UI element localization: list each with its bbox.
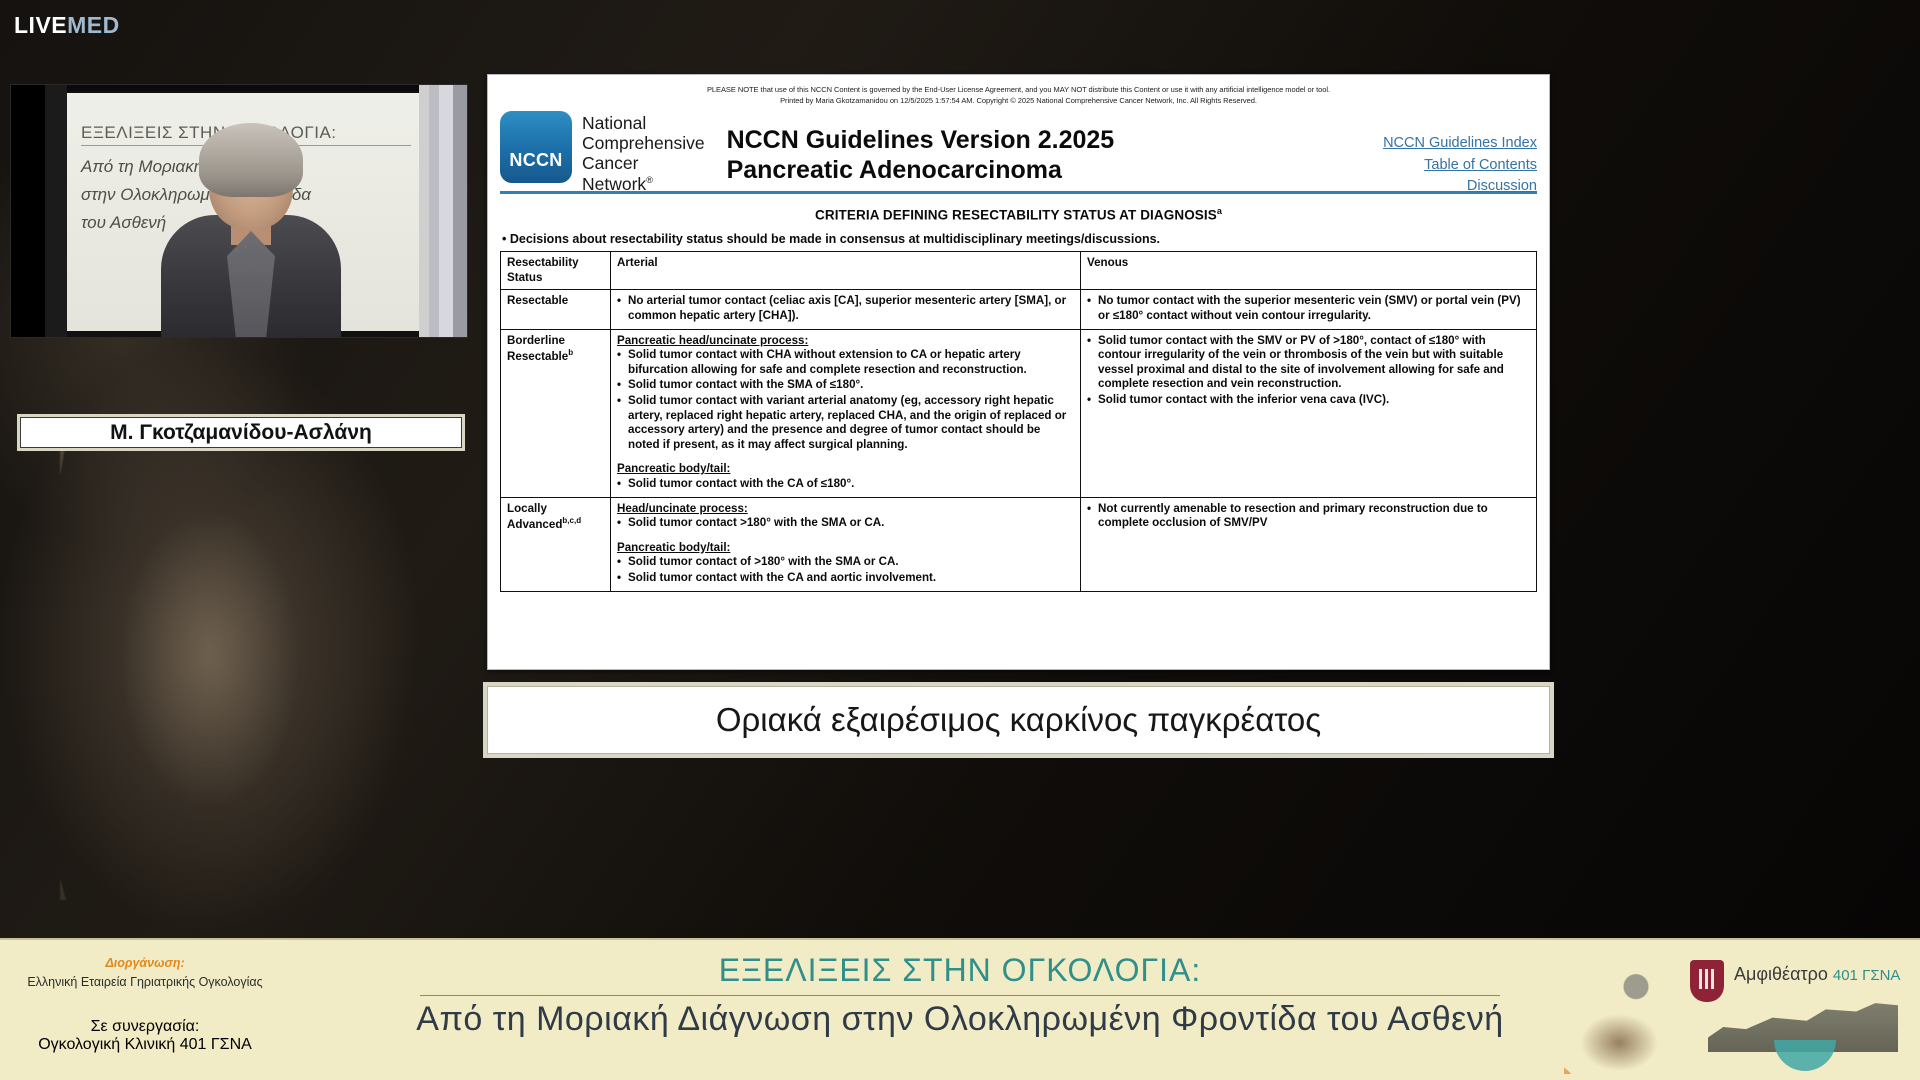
cell-bullet-list: Solid tumor contact with CHA without ext… bbox=[617, 348, 1074, 452]
footer-title-line1: ΕΞΕΛΙΞΕΙΣ ΣΤΗΝ ΟΓΚΟΛΟΓΙΑ: bbox=[300, 952, 1620, 989]
cell-bullet-item: Solid tumor contact with the inferior ve… bbox=[1087, 393, 1530, 408]
topic-caption-text: Οριακά εξαιρέσιμος καρκίνος παγκρέατος bbox=[716, 701, 1321, 739]
cell-resectability-status: Resectable bbox=[501, 290, 611, 329]
collaborator-value: Ογκολογική Κλινική 401 ΓΣΝΑ bbox=[0, 1036, 290, 1054]
header-venous: Venous bbox=[1081, 252, 1537, 290]
collaborator-block: Σε συνεργασία: Ογκολογική Κλινική 401 ΓΣ… bbox=[0, 1018, 290, 1054]
speaker-nameplate: Μ. Γκοτζαμανίδου-Ασλάνη bbox=[20, 417, 462, 448]
header-resectability-status: Resectability Status bbox=[501, 252, 611, 290]
link-discussion[interactable]: Discussion bbox=[1383, 176, 1537, 198]
cell-bullet-list: Solid tumor contact with the CA of ≤180°… bbox=[617, 477, 1074, 492]
organizer-value: Ελληνική Εταιρεία Γηριατρικής Ογκολογίας bbox=[0, 975, 290, 989]
cell-resectability-status: Locally Advancedb,c,d bbox=[501, 497, 611, 591]
criteria-heading: CRITERIA DEFINING RESECTABILITY STATUS A… bbox=[500, 206, 1537, 223]
logo-med-text: MED bbox=[67, 14, 120, 37]
speaker-name: Μ. Γκοτζαμανίδου-Ασλάνη bbox=[110, 421, 372, 445]
organizer-block: Διοργάνωση: Ελληνική Εταιρεία Γηριατρική… bbox=[0, 956, 290, 989]
speaker-video-tile[interactable]: ΕΞΕΛΙΞΕΙΣ ΣΤΗΝ ΟΓΚΟΛΟΓΙΑ: Από τη Μοριακή… bbox=[10, 84, 468, 338]
cell-subheading: Pancreatic body/tail: bbox=[617, 541, 1074, 556]
cell-resectability-status: Borderline Resectableb bbox=[501, 329, 611, 497]
cell-arterial: Pancreatic head/uncinate process:Solid t… bbox=[611, 329, 1081, 497]
cell-bullet-list: Solid tumor contact of >180° with the SM… bbox=[617, 555, 1074, 585]
link-table-of-contents[interactable]: Table of Contents bbox=[1383, 155, 1537, 177]
footer-logos: Αμφιθέατρο 401 ΓΣΝΑ bbox=[1558, 948, 1908, 1078]
table-row: Locally Advancedb,c,dHead/uncinate proce… bbox=[501, 497, 1537, 591]
venue-label: Αμφιθέατρο 401 ΓΣΝΑ bbox=[1734, 964, 1900, 985]
footer-title-block: ΕΞΕΛΙΞΕΙΣ ΣΤΗΝ ΟΓΚΟΛΟΓΙΑ: Από τη Μοριακή… bbox=[300, 952, 1620, 1039]
nccn-org-name: National Comprehensive Cancer Network® bbox=[582, 111, 705, 194]
video-left-edge bbox=[11, 85, 67, 337]
cell-bullet-item: Solid tumor contact with the SMA of ≤180… bbox=[617, 378, 1074, 393]
organizer-label: Διοργάνωση: bbox=[0, 956, 290, 970]
table-row: Borderline ResectablebPancreatic head/un… bbox=[501, 329, 1537, 497]
cell-bullet-item: No arterial tumor contact (celiac axis [… bbox=[617, 294, 1074, 323]
cell-subheading: Head/uncinate process: bbox=[617, 502, 1074, 517]
slide-header: NCCN National Comprehensive Cancer Netwo… bbox=[500, 111, 1537, 189]
table-body: ResectableNo arterial tumor contact (cel… bbox=[501, 290, 1537, 591]
army-shield-icon bbox=[1690, 960, 1724, 1002]
nccn-org-line4: Network® bbox=[582, 174, 705, 194]
nccn-org-line1: National bbox=[582, 113, 705, 133]
footer-title-divider bbox=[420, 995, 1500, 996]
slide-links: NCCN Guidelines Index Table of Contents … bbox=[1383, 133, 1537, 198]
cell-bullet-list: Not currently amenable to resection and … bbox=[1087, 502, 1530, 531]
nccn-org-line2: Comprehensive bbox=[582, 133, 705, 153]
consensus-note: • Decisions about resectability status s… bbox=[502, 232, 1537, 246]
table-row: ResectableNo arterial tumor contact (cel… bbox=[501, 290, 1537, 329]
cell-venous: Solid tumor contact with the SMV or PV o… bbox=[1081, 329, 1537, 497]
topic-caption-bar: Οριακά εξαιρέσιμος καρκίνος παγκρέατος bbox=[487, 686, 1550, 754]
video-right-edge bbox=[419, 85, 467, 337]
speaker-figure bbox=[151, 127, 351, 337]
cell-bullet-item: Solid tumor contact with CHA without ext… bbox=[617, 348, 1074, 377]
cell-arterial: No arterial tumor contact (celiac axis [… bbox=[611, 290, 1081, 329]
resectability-criteria-table: Resectability Status Arterial Venous Res… bbox=[500, 251, 1537, 591]
logo-live-text: LIVE bbox=[14, 14, 67, 37]
cell-venous: No tumor contact with the superior mesen… bbox=[1081, 290, 1537, 329]
video-frame: ΕΞΕΛΙΞΕΙΣ ΣΤΗΝ ΟΓΚΟΛΟΓΙΑ: Από τη Μοριακή… bbox=[11, 85, 467, 337]
footer-title-line2: Από τη Μοριακή Διάγνωση στην Ολοκληρωμέν… bbox=[300, 1000, 1620, 1039]
slide-title-subject: Pancreatic Adenocarcinoma bbox=[727, 155, 1115, 186]
venue-name: Αμφιθέατρο bbox=[1734, 964, 1828, 984]
conference-footer: Διοργάνωση: Ελληνική Εταιρεία Γηριατρική… bbox=[0, 938, 1920, 1080]
cell-bullet-item: Solid tumor contact with the CA and aort… bbox=[617, 571, 1074, 586]
dna-helix-icon bbox=[1564, 962, 1684, 1074]
slide-title-version: NCCN Guidelines Version 2.2025 bbox=[727, 125, 1115, 156]
presentation-slide: PLEASE NOTE that use of this NCCN Conten… bbox=[487, 74, 1550, 670]
cell-bullet-item: Solid tumor contact with the CA of ≤180°… bbox=[617, 477, 1074, 492]
link-guidelines-index[interactable]: NCCN Guidelines Index bbox=[1383, 133, 1537, 155]
cell-subheading: Pancreatic body/tail: bbox=[617, 462, 1074, 477]
cell-subheading: Pancreatic head/uncinate process: bbox=[617, 334, 1074, 349]
teal-arc-decoration bbox=[1774, 1040, 1836, 1071]
slide-title-block: NCCN Guidelines Version 2.2025 Pancreati… bbox=[727, 111, 1115, 186]
livemed-logo[interactable]: LIVEMED bbox=[14, 14, 120, 37]
nccn-org-line3: Cancer bbox=[582, 153, 705, 173]
cell-arterial: Head/uncinate process:Solid tumor contac… bbox=[611, 497, 1081, 591]
speaker-hair bbox=[199, 123, 303, 197]
cell-bullet-item: Solid tumor contact >180° with the SMA o… bbox=[617, 516, 1074, 531]
disclaimer-line-1: PLEASE NOTE that use of this NCCN Conten… bbox=[500, 85, 1537, 96]
cell-bullet-list: No arterial tumor contact (celiac axis [… bbox=[617, 294, 1074, 323]
cell-bullet-item: No tumor contact with the superior mesen… bbox=[1087, 294, 1530, 323]
cell-bullet-list: No tumor contact with the superior mesen… bbox=[1087, 294, 1530, 323]
webinar-player: LIVEMED ΕΞΕΛΙΞΕΙΣ ΣΤΗΝ ΟΓΚΟΛΟΓΙΑ: Από τη… bbox=[0, 0, 1920, 1080]
cell-bullet-item: Solid tumor contact of >180° with the SM… bbox=[617, 555, 1074, 570]
cell-bullet-item: Solid tumor contact with variant arteria… bbox=[617, 394, 1074, 452]
cell-venous: Not currently amenable to resection and … bbox=[1081, 497, 1537, 591]
nccn-logo-icon: NCCN bbox=[500, 111, 572, 183]
cell-bullet-item: Not currently amenable to resection and … bbox=[1087, 502, 1530, 531]
table-header-row: Resectability Status Arterial Venous bbox=[501, 252, 1537, 290]
disclaimer-line-2: Printed by Maria Gkotzamanidou on 12/5/2… bbox=[500, 96, 1537, 107]
cell-bullet-item: Solid tumor contact with the SMV or PV o… bbox=[1087, 334, 1530, 392]
cell-bullet-list: Solid tumor contact >180° with the SMA o… bbox=[617, 516, 1074, 531]
nccn-logo-text: NCCN bbox=[509, 150, 562, 171]
venue-code: 401 ΓΣΝΑ bbox=[1833, 967, 1901, 984]
cell-bullet-list: Solid tumor contact with the SMV or PV o… bbox=[1087, 334, 1530, 408]
header-arterial: Arterial bbox=[611, 252, 1081, 290]
collaborator-label: Σε συνεργασία: bbox=[0, 1018, 290, 1036]
